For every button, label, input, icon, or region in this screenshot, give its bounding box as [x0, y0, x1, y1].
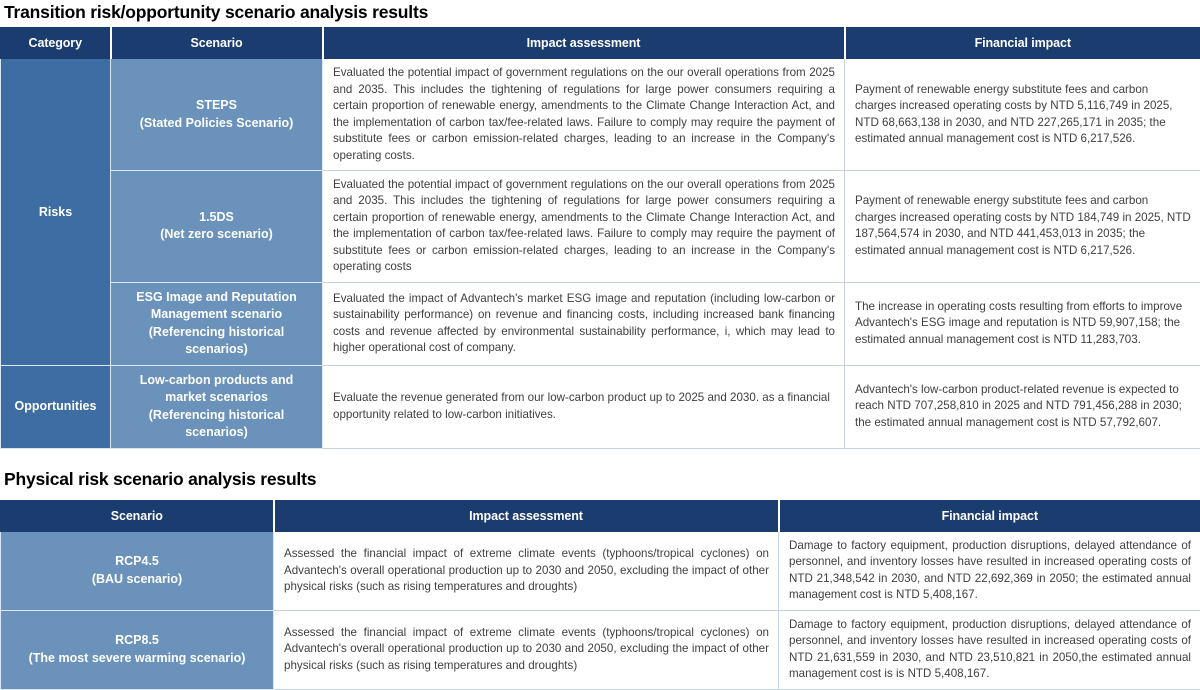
scenario-cell: ESG Image and Reputation Management scen… — [111, 282, 323, 365]
financial-impact-cell: Payment of renewable energy substitute f… — [845, 170, 1200, 282]
table-gap — [0, 449, 1200, 467]
header-scenario: Scenario — [1, 500, 274, 531]
financial-impact-cell: Payment of renewable energy substitute f… — [845, 59, 1200, 171]
scenario-cell: RCP8.5(The most severe warming scenario) — [1, 610, 274, 689]
physical-header-row: Scenario Impact assessment Financial imp… — [1, 500, 1200, 531]
header-financial-impact: Financial impact — [845, 28, 1200, 59]
table-row: ESG Image and Reputation Management scen… — [1, 282, 1200, 365]
header-impact-assessment: Impact assessment — [323, 28, 845, 59]
table-row: 1.5DS(Net zero scenario) Evaluated the p… — [1, 170, 1200, 282]
physical-table-title: Physical risk scenario analysis results — [0, 467, 1200, 494]
impact-assessment-cell: Evaluated the potential impact of govern… — [323, 170, 845, 282]
transition-risk-table: Category Scenario Impact assessment Fina… — [0, 27, 1200, 448]
financial-impact-cell: Damage to factory equipment, production … — [779, 531, 1200, 610]
transition-header-row: Category Scenario Impact assessment Fina… — [1, 28, 1200, 59]
financial-impact-cell: Advantech's low-carbon product-related r… — [845, 365, 1200, 448]
table-row: RCP4.5(BAU scenario) Assessed the financ… — [1, 531, 1200, 610]
impact-assessment-cell: Assessed the financial impact of extreme… — [274, 531, 779, 610]
category-cell-risks: Risks — [1, 59, 111, 365]
impact-assessment-cell: Evaluate the revenue generated from our … — [323, 365, 845, 448]
table-row: Opportunities Low-carbon products and ma… — [1, 365, 1200, 448]
scenario-cell: Low-carbon products and market scenarios… — [111, 365, 323, 448]
header-category: Category — [1, 28, 111, 59]
financial-impact-cell: Damage to factory equipment, production … — [779, 610, 1200, 689]
financial-impact-cell: The increase in operating costs resultin… — [845, 282, 1200, 365]
scenario-cell: 1.5DS(Net zero scenario) — [111, 170, 323, 282]
impact-assessment-cell: Assessed the financial impact of extreme… — [274, 610, 779, 689]
table-row: RCP8.5(The most severe warming scenario)… — [1, 610, 1200, 689]
scenario-cell: STEPS(Stated Policies Scenario) — [111, 59, 323, 171]
header-impact-assessment: Impact assessment — [274, 500, 779, 531]
transition-table-title: Transition risk/opportunity scenario ana… — [0, 0, 1200, 27]
category-cell-opportunities: Opportunities — [1, 365, 111, 448]
impact-assessment-cell: Evaluated the potential impact of govern… — [323, 59, 845, 171]
table-row: Risks STEPS(Stated Policies Scenario) Ev… — [1, 59, 1200, 171]
report-page: Transition risk/opportunity scenario ana… — [0, 0, 1200, 652]
header-scenario: Scenario — [111, 28, 323, 59]
scenario-cell: RCP4.5(BAU scenario) — [1, 531, 274, 610]
header-financial-impact: Financial impact — [779, 500, 1200, 531]
physical-risk-table: Scenario Impact assessment Financial imp… — [0, 500, 1200, 690]
impact-assessment-cell: Evaluated the impact of Advantech's mark… — [323, 282, 845, 365]
